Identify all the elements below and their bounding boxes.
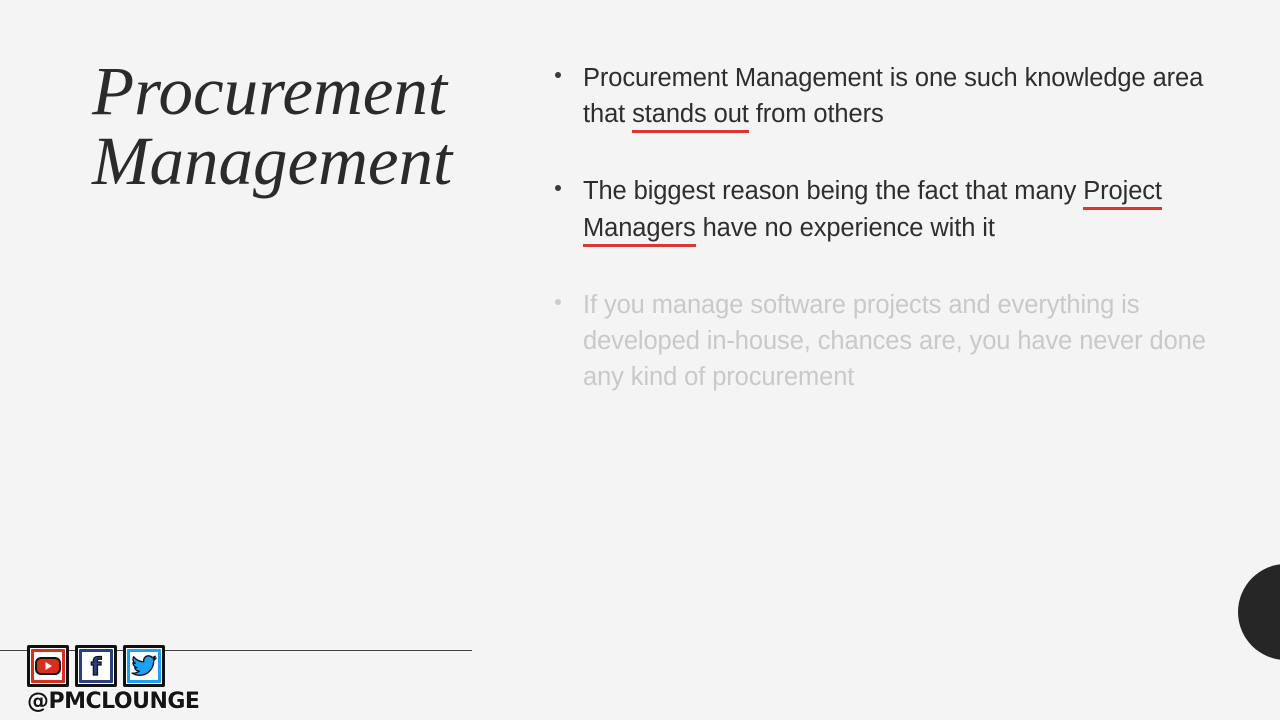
twitter-icon[interactable] <box>123 645 165 687</box>
bullet-item-3: If you manage software projects and ever… <box>552 287 1212 395</box>
bullet-text-3: If you manage software projects and ever… <box>583 291 1206 391</box>
footer-branding: f @PMCLOUNGE <box>27 645 172 714</box>
presentation-slide: Procurement Management Procurement Manag… <box>0 0 1280 720</box>
bullet-item-1: Procurement Management is one such knowl… <box>552 60 1212 133</box>
bullet-text-1: Procurement Management is one such knowl… <box>583 64 1203 128</box>
svg-text:f: f <box>91 653 102 679</box>
underlined-phrase: stands out <box>632 99 749 133</box>
bullet-dot-icon <box>555 299 561 305</box>
title-line-1: Procurement <box>92 56 512 126</box>
youtube-icon[interactable] <box>27 645 69 687</box>
underlined-phrase: Managers <box>583 213 696 247</box>
facebook-icon[interactable]: f <box>75 645 117 687</box>
title-line-2: Management <box>92 126 512 196</box>
bullet-list: Procurement Management is one such knowl… <box>552 60 1212 435</box>
bullet-dot-icon <box>555 72 561 78</box>
social-icon-group: f <box>27 645 172 687</box>
decorative-circle <box>1238 564 1280 660</box>
bullet-item-2: The biggest reason being the fact that m… <box>552 173 1212 247</box>
social-handle: @PMCLOUNGE <box>27 689 172 714</box>
bullet-dot-icon <box>555 185 561 191</box>
slide-title: Procurement Management <box>92 56 512 196</box>
bullet-text-2: The biggest reason being the fact that m… <box>583 177 1162 242</box>
underlined-phrase: Project <box>1083 176 1162 210</box>
